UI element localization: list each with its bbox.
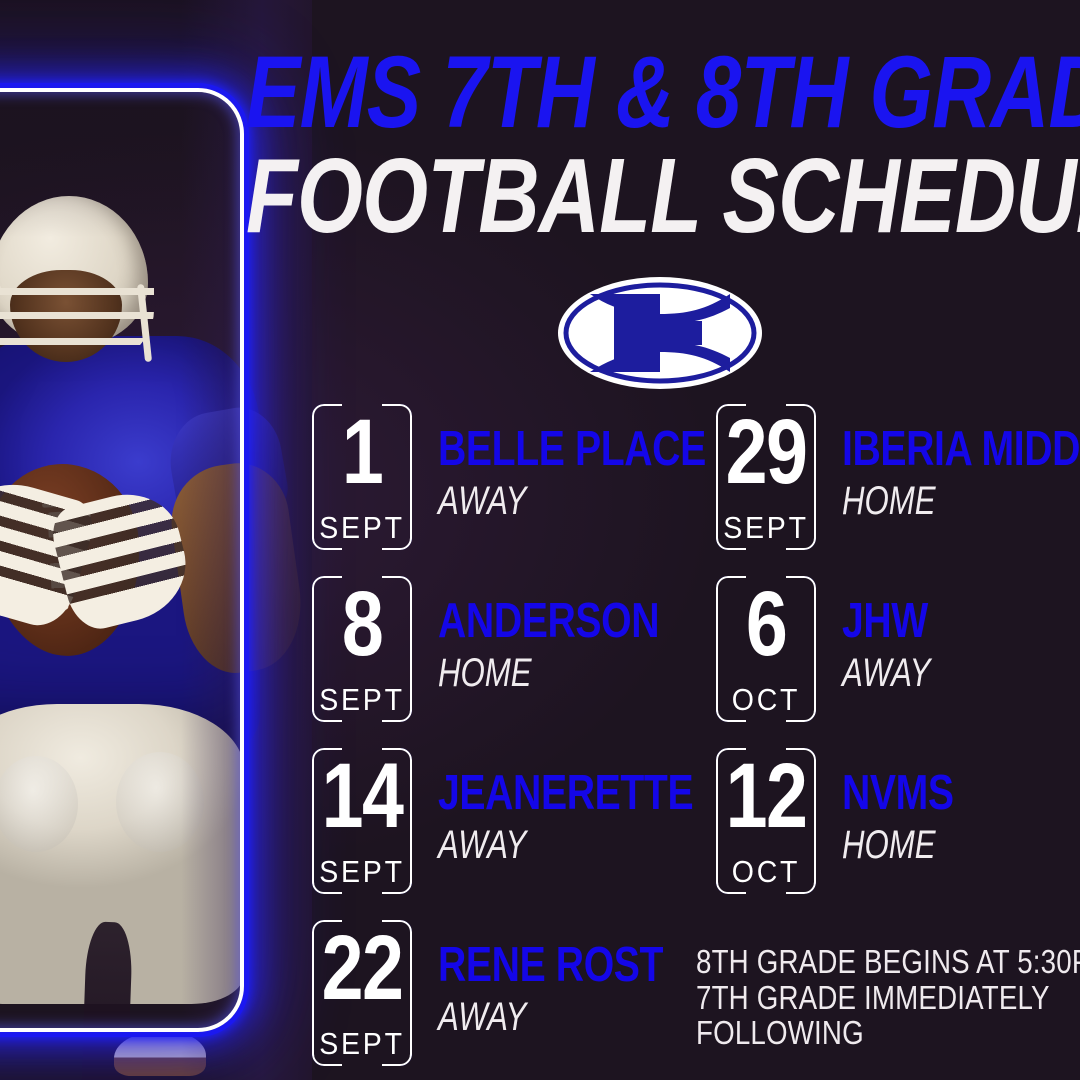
start-time-note: 8TH GRADE BEGINS AT 5:30PM 7TH GRADE IMM…: [696, 944, 1080, 1051]
game-location: AWAY: [842, 653, 930, 693]
date-month: OCT: [720, 682, 812, 718]
date-badge: 14 SEPT: [312, 748, 412, 894]
title-line-grade: EMS 7TH & 8TH GRADE: [246, 46, 896, 140]
player-thigh-pad-right: [116, 752, 204, 852]
game-location: HOME: [842, 825, 951, 865]
game-row[interactable]: 22 SEPT RENE ROST AWAY: [312, 920, 716, 1080]
schedule-grid: 1 SEPT BELLE PLACE AWAY 29 SEPT IBERIA M…: [312, 404, 1080, 964]
player-shoe: [114, 1032, 206, 1076]
football-player-image: [0, 196, 296, 1080]
game-row[interactable]: 8 SEPT ANDERSON HOME: [312, 576, 716, 748]
game-details: IBERIA MIDDLE HOME: [842, 404, 1080, 521]
opponent-name: NVMS: [842, 770, 954, 817]
game-row[interactable]: 12 OCT NVMS HOME: [716, 748, 1080, 920]
date-badge: 1 SEPT: [312, 404, 412, 550]
date-badge: 12 OCT: [716, 748, 816, 894]
game-location: AWAY: [438, 481, 655, 521]
game-location: HOME: [842, 481, 1028, 521]
game-location: HOME: [438, 653, 654, 693]
date-day: 12: [725, 750, 807, 844]
game-location: AWAY: [438, 997, 655, 1037]
date-day: 22: [321, 922, 403, 1016]
date-badge: 8 SEPT: [312, 576, 412, 722]
game-details: JHW AWAY: [842, 576, 955, 693]
date-badge: 6 OCT: [716, 576, 816, 722]
game-details: BELLE PLACE AWAY: [438, 404, 716, 521]
game-details: NVMS HOME: [842, 748, 982, 865]
game-details: JEANERETTE AWAY: [438, 748, 716, 865]
date-badge: 22 SEPT: [312, 920, 412, 1066]
title-line-schedule: FOOTBALL SCHEDULE: [246, 148, 896, 246]
date-day: 1: [321, 406, 403, 500]
opponent-name: ANDERSON: [438, 598, 659, 645]
opponent-name: BELLE PLACE: [438, 426, 660, 473]
note-line-3: FOLLOWING: [696, 1015, 1019, 1051]
opponent-name: JEANERETTE: [438, 770, 660, 817]
game-row[interactable]: 14 SEPT JEANERETTE AWAY: [312, 748, 716, 920]
football-schedule-poster: EMS 7TH & 8TH GRADE FOOTBALL SCHEDULE 1 …: [0, 0, 1080, 1080]
opponent-name: IBERIA MIDDLE: [842, 426, 1032, 473]
poster-title: EMS 7TH & 8TH GRADE FOOTBALL SCHEDULE: [246, 46, 1058, 245]
date-day: 14: [321, 750, 403, 844]
note-line-2: 7TH GRADE IMMEDIATELY: [696, 980, 1019, 1016]
game-location: AWAY: [438, 825, 655, 865]
game-details: RENE ROST AWAY: [438, 920, 716, 1037]
game-details: ANDERSON HOME: [438, 576, 714, 693]
date-day: 6: [725, 578, 807, 672]
game-row[interactable]: 1 SEPT BELLE PLACE AWAY: [312, 404, 716, 576]
game-row[interactable]: 6 OCT JHW AWAY: [716, 576, 1080, 748]
note-line-1: 8TH GRADE BEGINS AT 5:30PM: [696, 944, 1019, 980]
date-month: SEPT: [316, 854, 408, 890]
date-badge: 29 SEPT: [716, 404, 816, 550]
date-month: SEPT: [316, 510, 408, 546]
school-logo-e: [556, 274, 764, 392]
date-month: SEPT: [316, 682, 408, 718]
date-month: OCT: [720, 854, 812, 890]
date-month: SEPT: [316, 1026, 408, 1062]
opponent-name: RENE ROST: [438, 942, 660, 989]
game-row[interactable]: 29 SEPT IBERIA MIDDLE HOME: [716, 404, 1080, 576]
date-day: 29: [725, 406, 807, 500]
opponent-name: JHW: [842, 598, 933, 645]
date-day: 8: [321, 578, 403, 672]
date-month: SEPT: [720, 510, 812, 546]
